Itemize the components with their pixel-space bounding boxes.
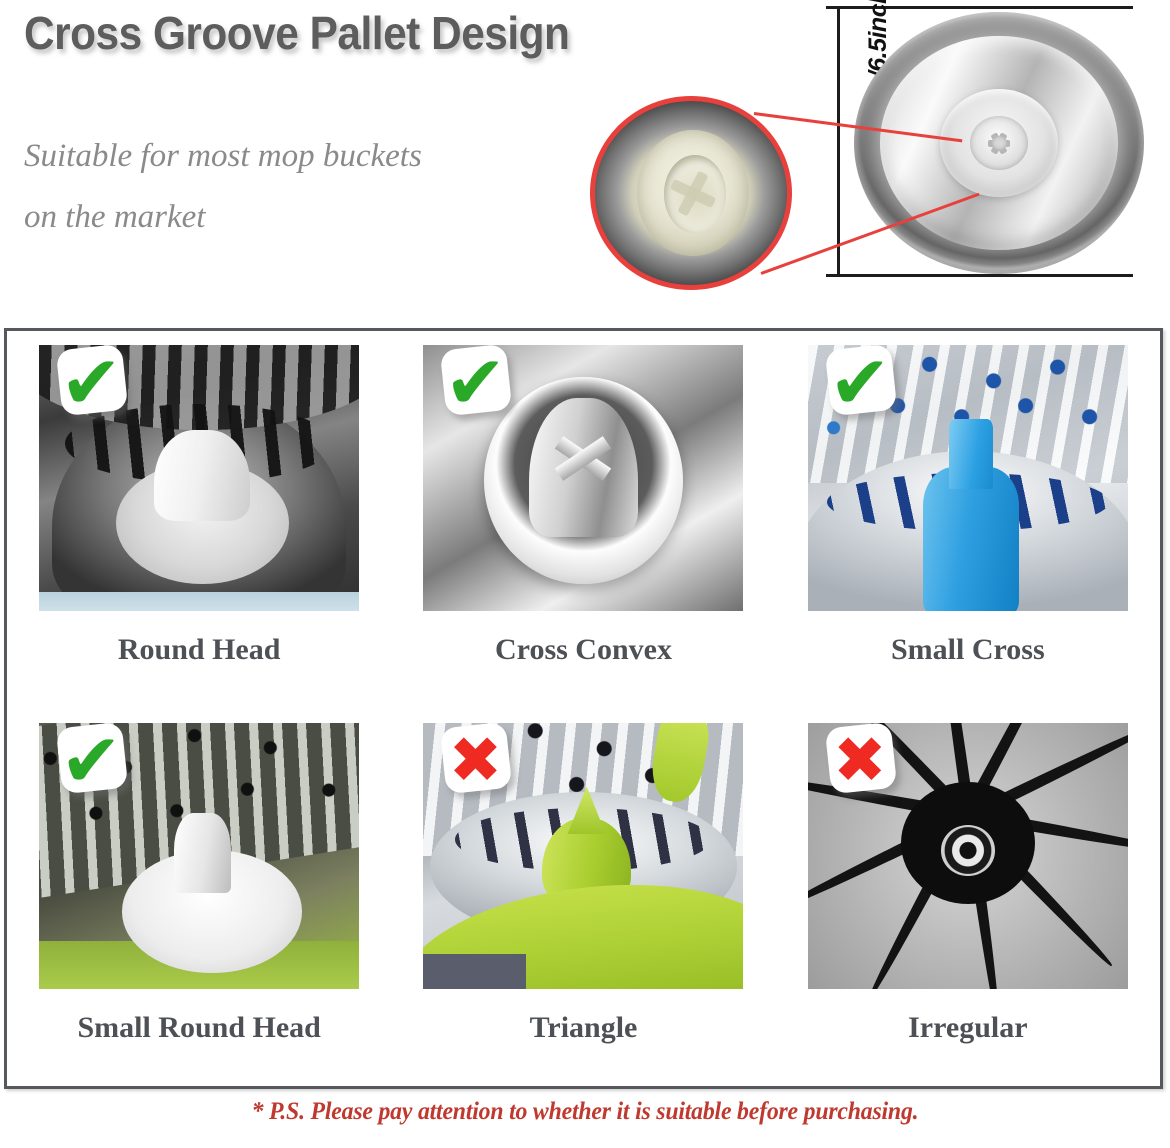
compat-label: Round Head [118, 633, 281, 667]
status-badge-compatible: ✔ [45, 723, 137, 807]
compat-label: Triangle [530, 1011, 638, 1045]
status-badge-incompatible: ✖ [814, 723, 906, 807]
compat-cell-irregular: ✖ Irregular [776, 709, 1160, 1087]
dimension-diagram: 16.5cm/6.5inch [576, 0, 1170, 300]
status-badge-compatible: ✔ [45, 345, 137, 429]
compat-label: Small Cross [891, 633, 1045, 667]
check-icon: ✔ [814, 345, 906, 429]
compat-cell-triangle: ✖ Triangle [391, 709, 775, 1087]
cross-groove-socket [637, 130, 748, 255]
check-icon: ✔ [429, 345, 521, 429]
pallet-hub [970, 116, 1028, 170]
status-badge-compatible: ✔ [814, 345, 906, 429]
cross-icon: ✖ [814, 723, 906, 807]
thumbnail-irregular: ✖ [808, 723, 1128, 989]
thumbnail-small-cross: ✔ [808, 345, 1128, 611]
thumbnail-small-round-head: ✔ [39, 723, 359, 989]
hub-center-dot [992, 136, 1007, 150]
page-subtitle: Suitable for most mop buckets on the mar… [24, 126, 584, 248]
status-badge-incompatible: ✖ [429, 723, 521, 807]
compat-label: Cross Convex [495, 633, 672, 667]
thumbnail-cross-convex: ✔ [423, 345, 743, 611]
pallet-photo [854, 12, 1144, 274]
page-title: Cross Groove Pallet Design [24, 6, 569, 60]
cross-icon: ✖ [429, 723, 521, 807]
compat-label: Small Round Head [77, 1011, 320, 1045]
thumbnail-triangle: ✖ [423, 723, 743, 989]
thumbnail-round-head: ✔ [39, 345, 359, 611]
dimension-measure-line [837, 6, 840, 277]
dimension-extension-line-bottom [826, 274, 1133, 277]
magnifier-closeup [590, 96, 792, 290]
compatibility-grid: ✔ Round Head ✔ Cross Convex [7, 331, 1160, 1086]
compat-cell-small-cross: ✔ Small Cross [776, 331, 1160, 709]
compat-cell-cross-convex: ✔ Cross Convex [391, 331, 775, 709]
compatibility-panel: ✔ Round Head ✔ Cross Convex [4, 328, 1163, 1089]
check-icon: ✔ [45, 723, 137, 807]
status-badge-compatible: ✔ [429, 345, 521, 429]
purchase-note: * P.S. Please pay attention to whether i… [29, 1098, 1141, 1126]
compat-cell-round-head: ✔ Round Head [7, 331, 391, 709]
product-infographic: Cross Groove Pallet Design Suitable for … [0, 0, 1170, 1148]
compat-label: Irregular [908, 1011, 1027, 1045]
check-icon: ✔ [45, 345, 137, 429]
compat-cell-small-round-head: ✔ Small Round Head [7, 709, 391, 1087]
